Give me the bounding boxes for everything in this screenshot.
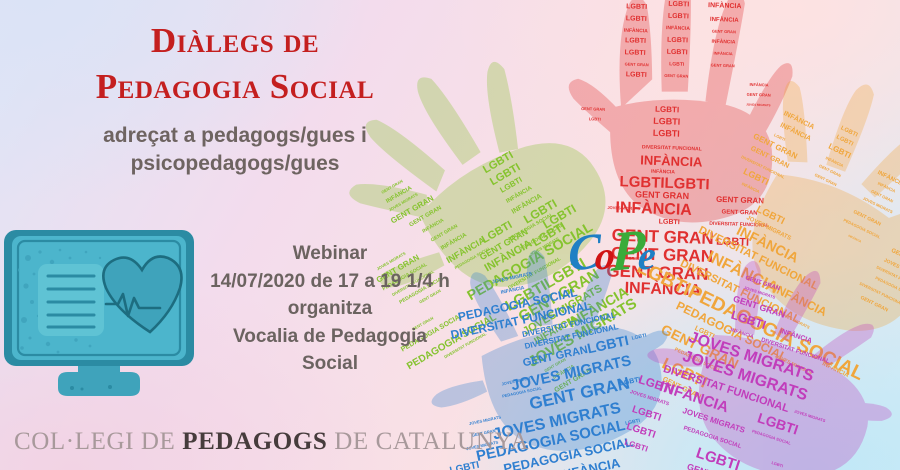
svg-text:INFÀNCIA: INFÀNCIA [713, 51, 732, 57]
svg-text:GENT GRAN: GENT GRAN [712, 28, 736, 34]
cope-logo: CoPe [568, 216, 718, 288]
event-datetime: 14/07/2020 de 17 a 19 1/4 h [190, 268, 470, 296]
computer-monitor-illustration [0, 228, 200, 408]
subtitle-line-1: adreçat a pedagogs/gues i [30, 122, 440, 150]
svg-text:LGBTI: LGBTI [669, 61, 685, 68]
svg-text:INFÀNCIA: INFÀNCIA [710, 16, 740, 24]
svg-text:GENT GRAN: GENT GRAN [711, 62, 735, 68]
organization-footer: COL·LEGI DE PEDAGOGS DE CATALUNYA [14, 428, 529, 456]
svg-text:GENT GRAN: GENT GRAN [635, 189, 689, 201]
svg-text:LGBTI: LGBTI [631, 404, 663, 424]
page-title: Diàlegs de Pedagogia Social [20, 18, 450, 110]
svg-text:LGBTI: LGBTI [667, 37, 688, 45]
footer-part-3: DE CATALUNYA [327, 428, 529, 455]
svg-text:LGBTI: LGBTI [625, 37, 646, 45]
svg-text:LGBTI: LGBTI [589, 116, 601, 121]
monitor-stand-base [58, 372, 140, 396]
svg-text:LGBTI: LGBTI [655, 105, 679, 115]
svg-text:LGBTI: LGBTI [624, 49, 645, 57]
svg-text:LGBTI: LGBTI [623, 438, 649, 454]
svg-text:INFÀNCIA: INFÀNCIA [666, 24, 691, 32]
svg-text:LGBTI: LGBTI [626, 15, 647, 23]
svg-text:LGBTI: LGBTI [668, 13, 689, 21]
svg-text:GENT GRAN: GENT GRAN [664, 73, 688, 79]
svg-text:LGBTI: LGBTI [626, 71, 647, 79]
svg-text:GENT GRAN: GENT GRAN [581, 106, 605, 112]
svg-text:JOVES MIGRATS: JOVES MIGRATS [469, 414, 502, 426]
svg-text:JOVES MIGRATS: JOVES MIGRATS [492, 271, 534, 285]
svg-text:LGBTI: LGBTI [626, 3, 647, 11]
event-organizer-line-1: Vocalia de Pedagogia [190, 323, 470, 351]
poster-canvas: LGBTI LGBTI INFÀNCIA LGBTI LGBTI GENT GR… [0, 0, 900, 470]
svg-text:INFÀNCIA: INFÀNCIA [640, 152, 703, 169]
footer-part-1: COL·LEGI DE [14, 428, 182, 455]
event-format: Webinar [190, 240, 470, 268]
title-line-2: Pedagogia Social [20, 64, 450, 110]
svg-text:LGBTI: LGBTI [653, 128, 680, 139]
svg-text:INFÀNCIA: INFÀNCIA [711, 38, 736, 46]
svg-text:INFÀNCIA: INFÀNCIA [779, 326, 814, 345]
svg-text:LGBTI: LGBTI [653, 116, 680, 127]
event-organizer-line-2: Social [190, 350, 470, 378]
svg-text:GENT GRAN: GENT GRAN [625, 61, 649, 67]
svg-text:INFÀNCIA: INFÀNCIA [500, 284, 525, 296]
event-organizer-label: organitza [190, 295, 470, 323]
svg-text:LGBTI: LGBTI [449, 460, 481, 470]
cope-letter-e: e [636, 220, 654, 291]
svg-text:INFÀNCIA: INFÀNCIA [624, 27, 649, 35]
subtitle-line-2: psicopedagogs/gues [30, 150, 440, 178]
event-details: Webinar 14/07/2020 de 17 a 19 1/4 h orga… [190, 240, 470, 378]
svg-text:LGBTI: LGBTI [667, 49, 688, 57]
footer-part-2: PEDAGOGS [182, 428, 327, 455]
title-line-1: Diàlegs de [20, 18, 450, 64]
page-subtitle: adreçat a pedagogs/gues i psicopedagogs/… [30, 122, 440, 177]
svg-text:LGBTI: LGBTI [668, 1, 689, 9]
